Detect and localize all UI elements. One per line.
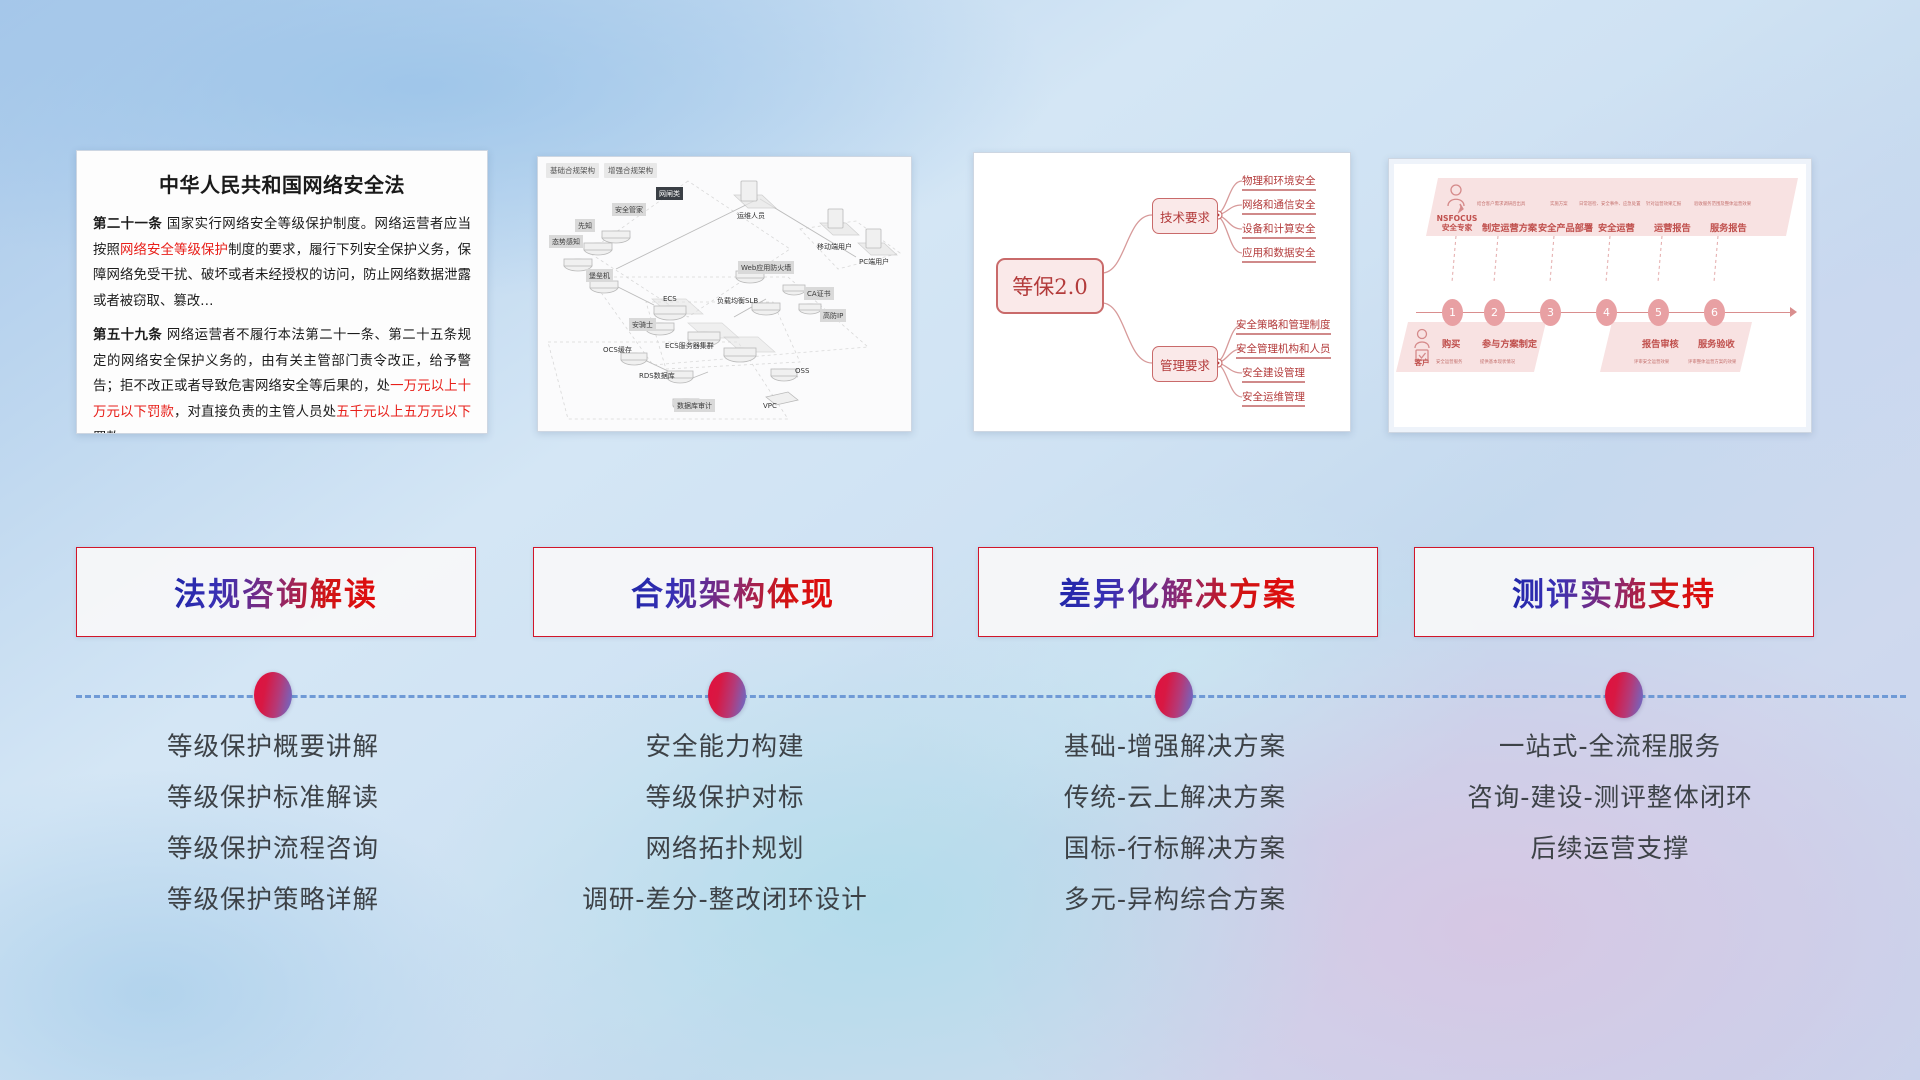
mindmap-leaf[interactable]: 安全策略和管理制度 — [1236, 317, 1331, 335]
section-header-row: 法规咨询解读 合规架构体现 差异化解决方案 测评实施支持 — [0, 547, 1920, 643]
law-article-label: 第二十一条 — [93, 217, 162, 232]
mindmap-leaf[interactable]: 安全建设管理 — [1242, 365, 1305, 383]
law-paragraph: 第五十九条 网络运营者不履行本法第二十一条、第二十五条规定的网络安全保护义务的，… — [93, 323, 471, 434]
mindmap-branch-technical[interactable]: 技术要求 — [1152, 198, 1218, 234]
flow-top-title: 安全运营 — [1598, 220, 1635, 234]
mindmap-leaf[interactable]: 网络和通信安全 — [1242, 197, 1316, 215]
list-item: 咨询-建设-测评整体闭环 — [1395, 786, 1825, 812]
flow-top-sub: 验收服务范围及整体运营效果 — [1694, 201, 1751, 207]
list-item: 等级保护对标 — [510, 786, 940, 812]
law-run: ，对直接负责的主管人员处 — [174, 405, 336, 420]
section-header-assessment-support[interactable]: 测评实施支持 — [1414, 547, 1814, 637]
cloud-node-label[interactable]: PC端用户 — [856, 255, 892, 268]
mindmap-leaf[interactable]: 安全运维管理 — [1242, 389, 1305, 407]
flow-bottom-sub: 评审安全运营效果 — [1634, 359, 1669, 365]
cloud-node-label[interactable]: OSS — [792, 365, 812, 376]
card-law-text[interactable]: 中华人民共和国网络安全法 第二十一条 国家实行网络安全等级保护制度。网络运营者应… — [76, 150, 488, 434]
flow-actor-expert: NSFOCUS 安全专家 — [1428, 214, 1486, 233]
flow-top-title: 制定运营方案 — [1482, 220, 1537, 234]
list-item: 后续运营支撑 — [1395, 837, 1825, 863]
cloud-node-label[interactable]: ECS — [660, 293, 680, 304]
flow-step-dot[interactable]: 6 — [1704, 299, 1725, 326]
mindmap-root-node[interactable]: 等保2.0 — [996, 258, 1104, 314]
flow-top-title: 运营报告 — [1654, 220, 1691, 234]
law-run-highlight: 五千元以上五万元以下 — [336, 405, 471, 420]
flow-step-dot[interactable]: 2 — [1484, 299, 1505, 326]
flow-step-dot[interactable]: 5 — [1648, 299, 1669, 326]
list-item: 网络拓扑规划 — [510, 837, 940, 863]
mindmap-branch-management[interactable]: 管理要求 — [1152, 346, 1218, 382]
section-header-label: 法规咨询解读 — [174, 569, 378, 615]
flow-bottom-sub: 提供基本现状情况 — [1480, 359, 1515, 365]
flow-bottom-title: 参与方案制定 — [1482, 336, 1537, 350]
cloud-node-label[interactable]: 运维人员 — [734, 209, 768, 222]
list-item: 国标-行标解决方案 — [960, 837, 1390, 863]
flow-bottom-sub: 评审整体运营方案的效果 — [1688, 359, 1736, 365]
law-title: 中华人民共和国网络安全法 — [93, 169, 471, 198]
list-item: 等级保护流程咨询 — [58, 837, 488, 863]
timeline-connector — [0, 668, 1920, 724]
list-item: 等级保护策略详解 — [58, 888, 488, 914]
section-header-regulation-consulting[interactable]: 法规咨询解读 — [76, 547, 476, 637]
law-run-highlight: 网络安全等级保护 — [120, 243, 228, 258]
cloud-node-label[interactable]: 态势感知 — [549, 235, 583, 248]
cloud-node-label[interactable]: 堡垒机 — [586, 269, 613, 282]
law-article-label: 第五十九条 — [93, 328, 162, 343]
list-item: 安全能力构建 — [510, 735, 940, 761]
list-item: 多元-异构综合方案 — [960, 888, 1390, 914]
flow-top-sub: 日常巡检、安全事件、应急处置 — [1579, 201, 1640, 207]
flow-bottom-title: 购买 — [1442, 336, 1460, 350]
flow-step-dot[interactable]: 1 — [1442, 299, 1463, 326]
timeline-node-4[interactable] — [1605, 672, 1643, 718]
timeline-node-3[interactable] — [1155, 672, 1193, 718]
law-run: 罚款。 — [93, 431, 133, 434]
section-header-label: 合规架构体现 — [631, 569, 835, 615]
section-header-compliance-architecture[interactable]: 合规架构体现 — [533, 547, 933, 637]
cloud-node-label[interactable]: RDS数据库 — [636, 369, 678, 382]
detail-list-row: 等级保护概要讲解 等级保护标准解读 等级保护流程咨询 等级保护策略详解 安全能力… — [0, 735, 1920, 975]
section-header-label: 差异化解决方案 — [1059, 569, 1297, 615]
card-mindmap-dengbao[interactable]: 等保2.0 技术要求 管理要求 物理和环境安全 网络和通信安全 设备和计算安全 … — [973, 152, 1351, 432]
thumbnail-card-row: 中华人民共和国网络安全法 第二十一条 国家实行网络安全等级保护制度。网络运营者应… — [0, 150, 1920, 450]
flow-top-sub: 针对运营效果汇报 — [1646, 201, 1681, 207]
cloud-node-label[interactable]: 高防IP — [820, 309, 846, 322]
cloud-node-label[interactable]: 网闸类 — [656, 187, 683, 200]
flow-step-dot[interactable]: 4 — [1596, 299, 1617, 326]
mindmap-leaf[interactable]: 设备和计算安全 — [1242, 221, 1316, 239]
list-item: 基础-增强解决方案 — [960, 735, 1390, 761]
cloud-node-label[interactable]: OCS缓存 — [600, 343, 635, 356]
section-header-differentiated-solution[interactable]: 差异化解决方案 — [978, 547, 1378, 637]
section-header-label: 测评实施支持 — [1512, 569, 1716, 615]
cloud-node-label[interactable]: CA证书 — [804, 287, 834, 300]
cloud-node-label[interactable]: 数据库审计 — [674, 399, 715, 412]
cloud-node-label[interactable]: VPC — [760, 400, 780, 411]
cloud-node-label[interactable]: 移动端用户 — [814, 240, 855, 253]
flow-top-sub: 实施方案 — [1550, 201, 1568, 207]
timeline-node-1[interactable] — [254, 672, 292, 718]
cloud-node-label[interactable]: Web应用防火墙 — [738, 261, 794, 274]
flow-top-title: 安全产品部署 — [1538, 220, 1593, 234]
cloud-node-label[interactable]: 先知 — [575, 219, 595, 232]
cloud-node-label[interactable]: ECS服务器集群 — [662, 339, 717, 352]
list-item: 传统-云上解决方案 — [960, 786, 1390, 812]
cloud-node-label[interactable]: 负载均衡SLB — [714, 294, 761, 307]
list-item: 等级保护概要讲解 — [58, 735, 488, 761]
flow-actor-expert-line2: 安全专家 — [1428, 223, 1486, 232]
cloud-node-label[interactable]: 安骑士 — [629, 318, 656, 331]
detail-list-differentiated-solution: 基础-增强解决方案 传统-云上解决方案 国标-行标解决方案 多元-异构综合方案 — [960, 735, 1390, 939]
flow-top-title: 服务报告 — [1710, 220, 1747, 234]
cloud-node-label[interactable]: 安全管家 — [612, 203, 646, 216]
flow-actor-customer: 客户 — [1408, 358, 1436, 367]
flow-actor-customer-line1: 客户 — [1408, 358, 1436, 367]
detail-list-regulation-consulting: 等级保护概要讲解 等级保护标准解读 等级保护流程咨询 等级保护策略详解 — [58, 735, 488, 939]
flow-top-sub: 结合客户需求调研后出具 — [1477, 201, 1525, 207]
flow-bottom-title: 服务验收 — [1698, 336, 1735, 350]
card-nsfocus-service-flow[interactable]: 1 2 3 4 5 6 NSFOCUS 安全专家 制定运营方案 结合客户需求调研… — [1388, 158, 1812, 433]
list-item: 调研-差分-整改闭环设计 — [510, 888, 940, 914]
card-cloud-architecture[interactable]: 基础合规架构 增强合规架构 — [537, 156, 912, 432]
mindmap-leaf[interactable]: 应用和数据安全 — [1242, 245, 1316, 263]
mindmap-leaf[interactable]: 物理和环境安全 — [1242, 173, 1316, 191]
law-paragraph: 第二十一条 国家实行网络安全等级保护制度。网络运营者应当按照网络安全等级保护制度… — [93, 212, 471, 315]
list-item: 一站式-全流程服务 — [1395, 735, 1825, 761]
list-item: 等级保护标准解读 — [58, 786, 488, 812]
flow-step-dot[interactable]: 3 — [1540, 299, 1561, 326]
mindmap-leaf[interactable]: 安全管理机构和人员 — [1236, 341, 1331, 359]
detail-list-assessment-support: 一站式-全流程服务 咨询-建设-测评整体闭环 后续运营支撑 — [1395, 735, 1825, 888]
flow-bottom-sub: 安全运营服务 — [1436, 359, 1462, 365]
detail-list-compliance-architecture: 安全能力构建 等级保护对标 网络拓扑规划 调研-差分-整改闭环设计 — [510, 735, 940, 939]
timeline-node-2[interactable] — [708, 672, 746, 718]
flow-bottom-title: 报告审核 — [1642, 336, 1679, 350]
